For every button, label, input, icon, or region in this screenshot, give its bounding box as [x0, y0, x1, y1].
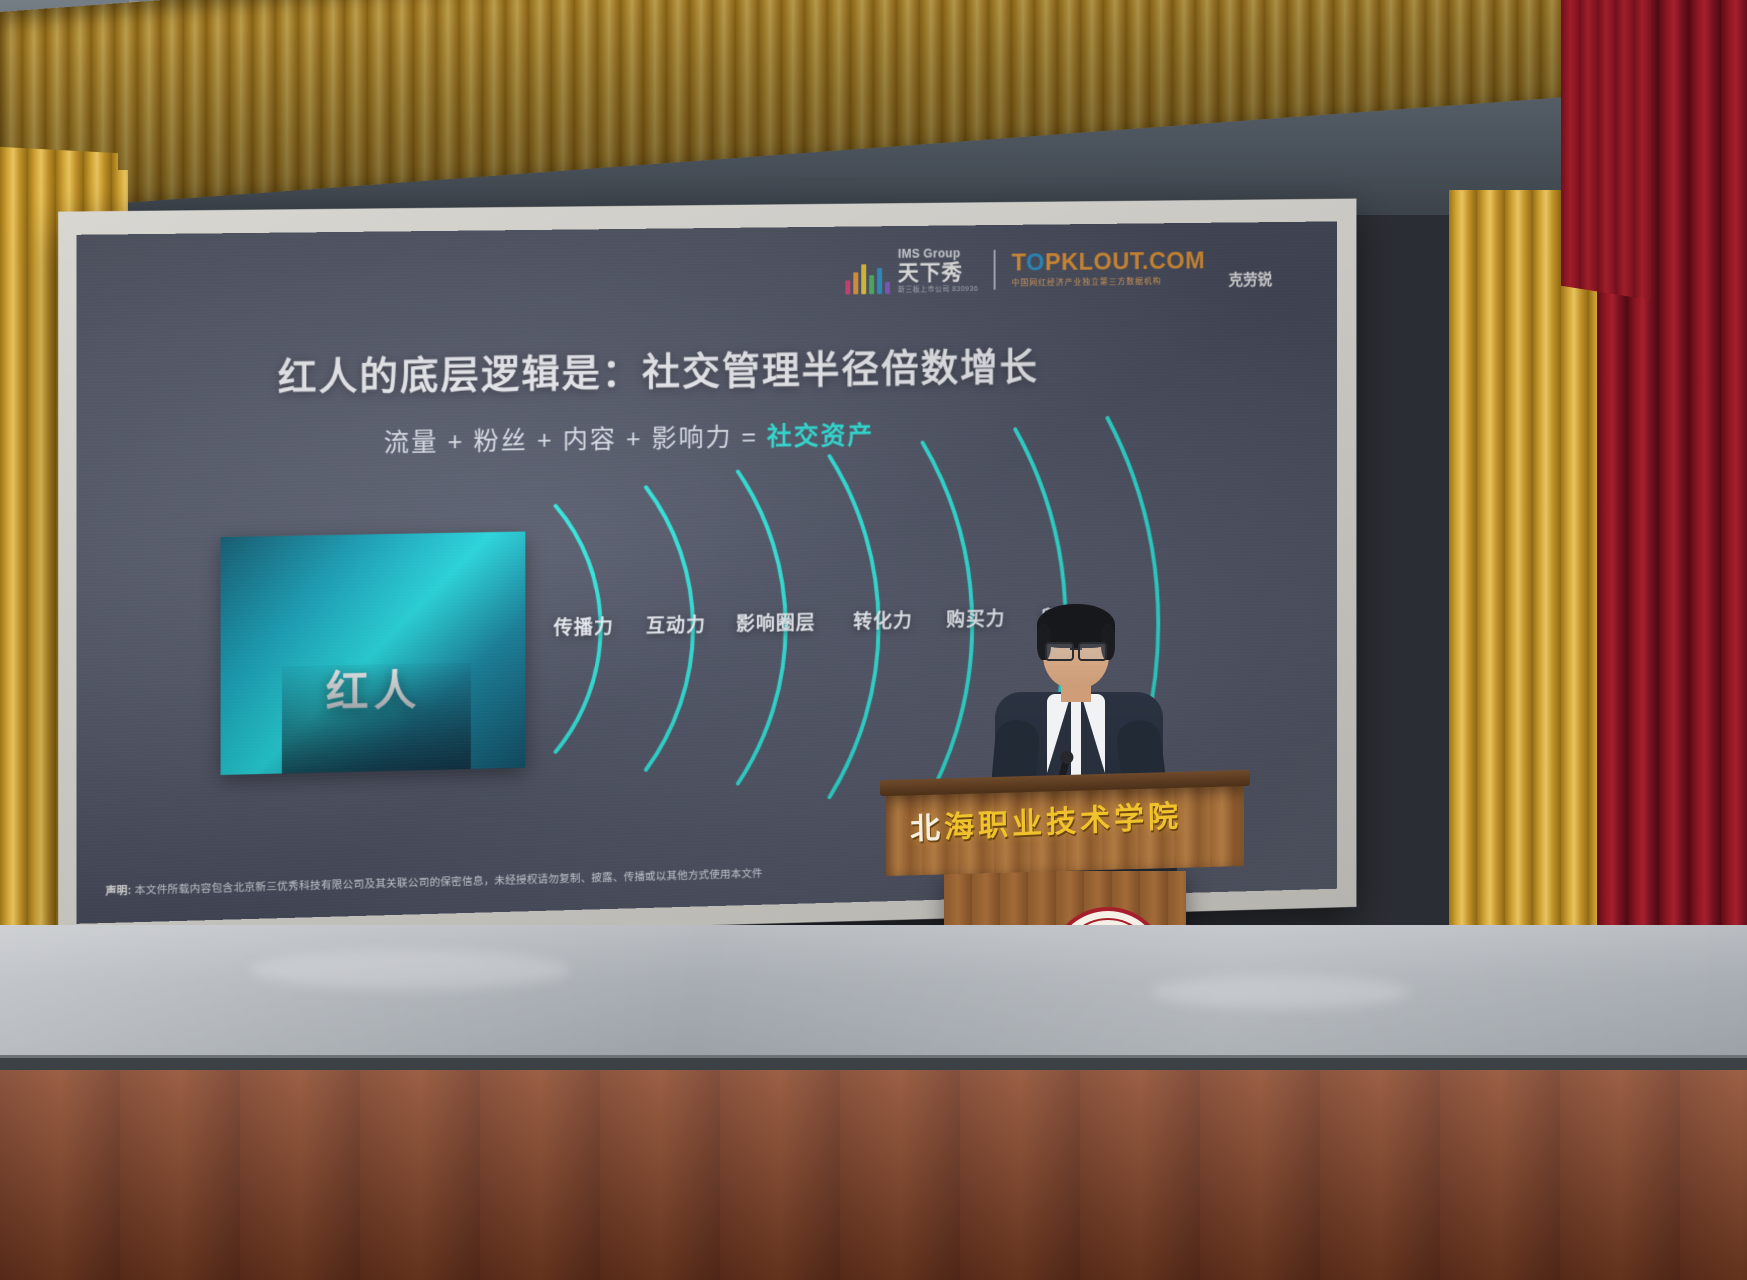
disclaimer-prefix: 声明:: [106, 885, 132, 898]
calligraphy-first-char: 北: [910, 811, 945, 848]
speaker-glasses-icon: [1045, 642, 1107, 658]
floor-highlight: [250, 950, 570, 990]
arc-label-2: 互动力: [646, 610, 706, 638]
arc-label-3: 影响圈层: [736, 608, 816, 637]
curtain-red-upper: [1561, 0, 1651, 300]
stage-scene: IMS Group 天下秀 新三板上市公司 830936 TOPKLOUT.CO…: [0, 0, 1747, 1280]
arc-label-1: 传播力: [554, 612, 614, 640]
wooden-floor-shading: [0, 1070, 1747, 1280]
floor-reflection: [0, 925, 1747, 1065]
arc-label-4: 转化力: [853, 606, 912, 634]
floor-highlight: [1150, 975, 1410, 1009]
